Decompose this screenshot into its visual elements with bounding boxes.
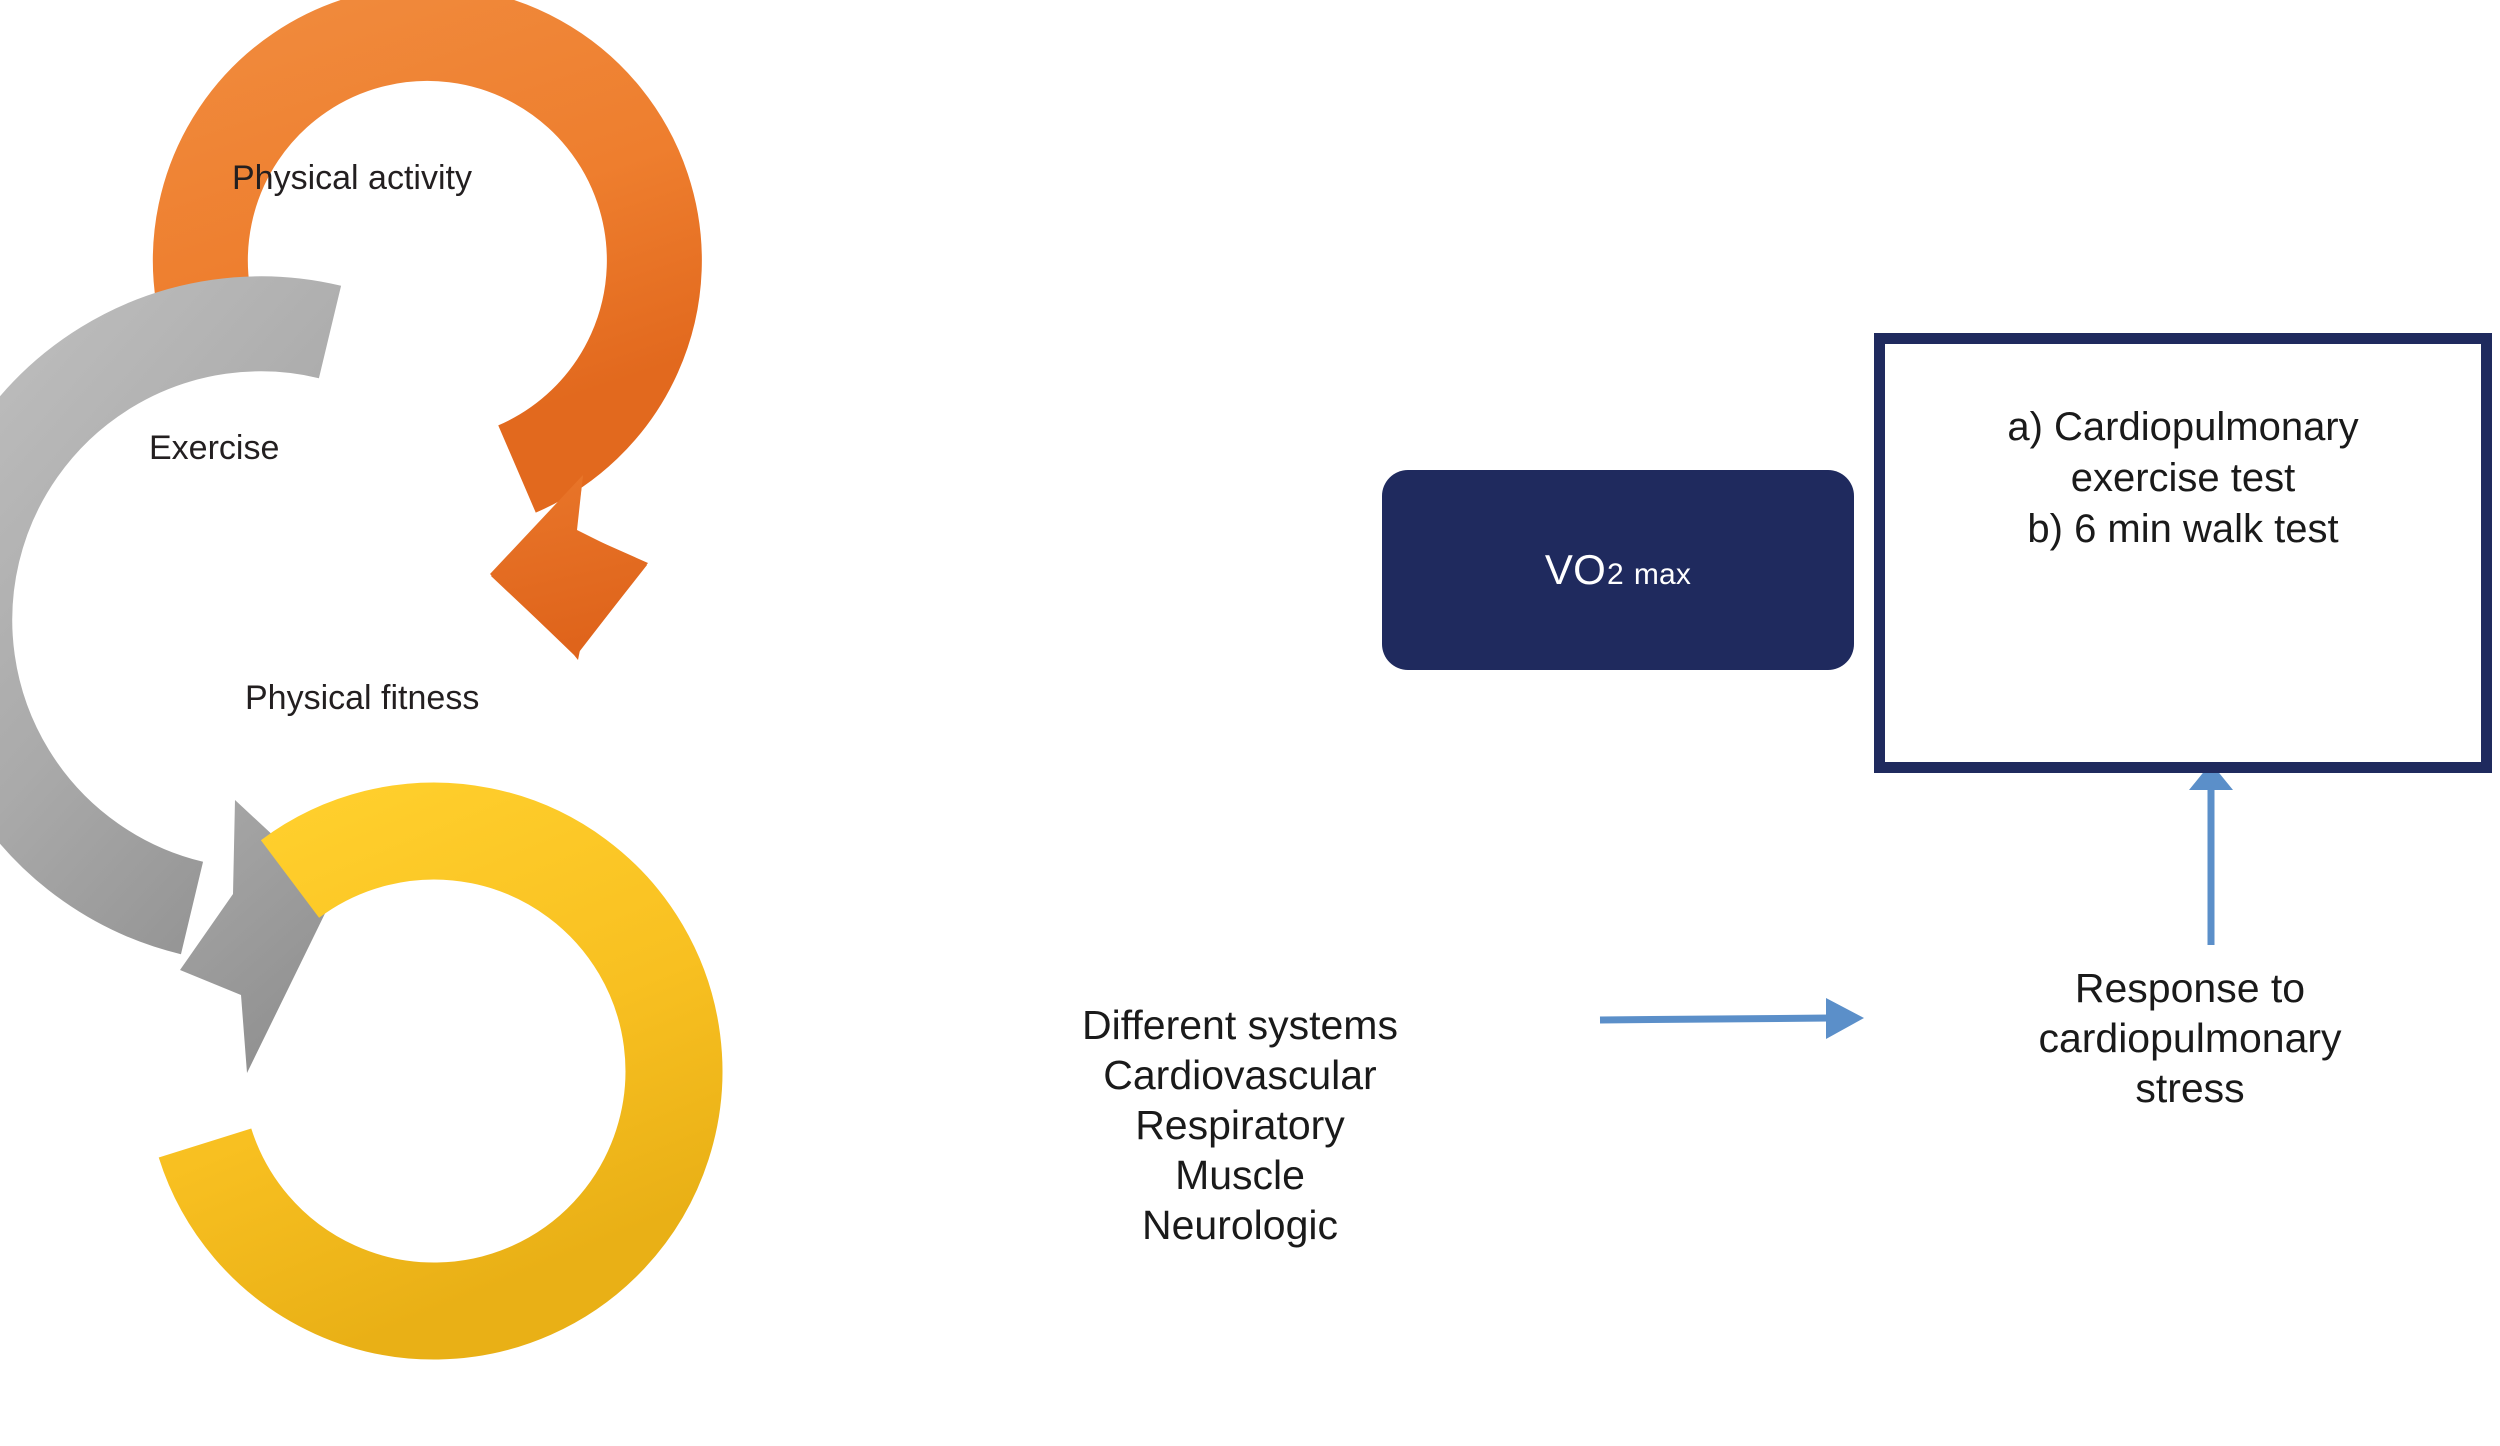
vo2-suffix: max — [1634, 558, 1691, 592]
response-text-block: Response to cardiopulmonary stress — [1990, 963, 2390, 1113]
systems-line: Muscle — [1040, 1150, 1440, 1200]
response-line: cardiopulmonary — [1990, 1013, 2390, 1063]
arc-exercise-band — [0, 324, 330, 908]
tests-box: a) Cardiopulmonary exercise test b) 6 mi… — [1874, 333, 2492, 773]
systems-arrow-head-icon — [1826, 998, 1864, 1039]
arrowhead-orange-shape-icon — [491, 476, 648, 656]
tests-text-block: a) Cardiopulmonary exercise test b) 6 mi… — [2007, 402, 2358, 556]
vo2-max-label: VO2max — [1545, 546, 1691, 594]
systems-line: Respiratory — [1040, 1100, 1440, 1150]
systems-arrow-shaft — [1600, 1018, 1830, 1020]
label-physical-activity: Physical activity — [232, 158, 472, 198]
response-line: Response to — [1990, 963, 2390, 1013]
systems-to-response-arrow — [1600, 998, 1864, 1039]
systems-line: Different systems — [1040, 1000, 1440, 1050]
arc-physical-activity-band — [200, 33, 654, 469]
tests-line: exercise test — [2007, 453, 2358, 504]
response-to-tests-arrow — [2189, 763, 2233, 945]
label-physical-fitness: Physical fitness — [245, 678, 479, 718]
vo2-prefix: VO — [1545, 546, 1606, 594]
systems-line: Cardiovascular — [1040, 1050, 1440, 1100]
label-exercise: Exercise — [149, 428, 279, 468]
systems-text-block: Different systems Cardiovascular Respira… — [1040, 1000, 1440, 1250]
vo2-subscript: 2 — [1607, 558, 1624, 592]
systems-line: Neurologic — [1040, 1200, 1440, 1250]
response-line: stress — [1990, 1063, 2390, 1113]
vo2-max-box: VO2max — [1382, 470, 1854, 670]
tests-line: b) 6 min walk test — [2007, 504, 2358, 555]
tests-line: a) Cardiopulmonary — [2007, 402, 2358, 453]
diagram-canvas: Physical activity Exercise Physical fitn… — [0, 0, 2500, 1446]
